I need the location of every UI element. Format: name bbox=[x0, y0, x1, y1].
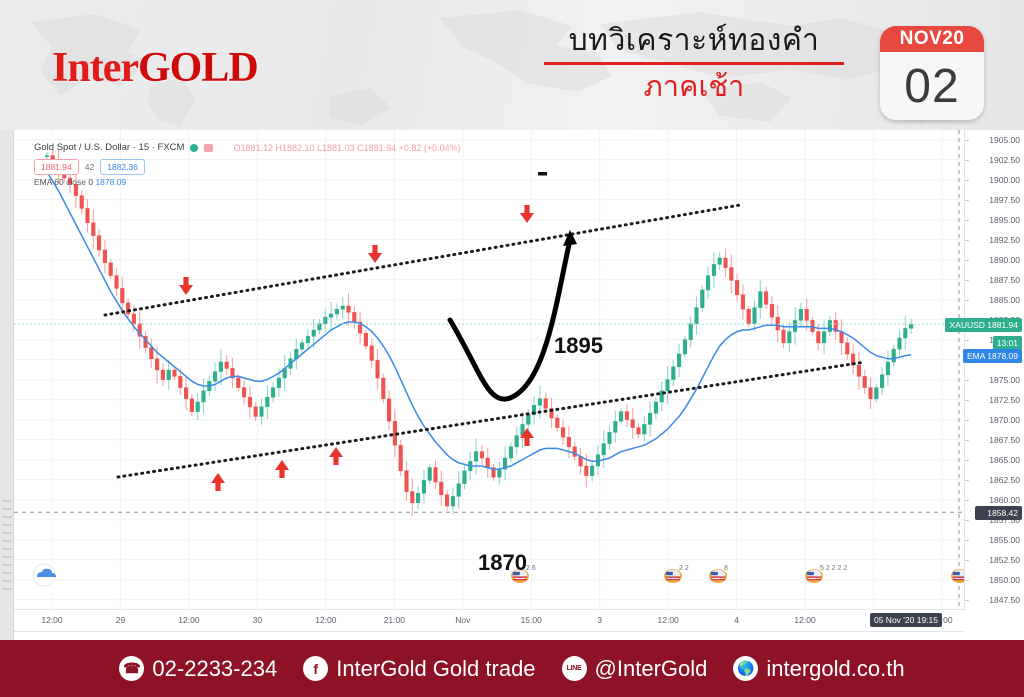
annotation-target-1895: 1895 bbox=[554, 333, 603, 359]
price-tick bbox=[965, 280, 969, 281]
svg-text:2 6: 2 6 bbox=[526, 565, 536, 572]
headline-line2: ภาคเช้า bbox=[544, 68, 844, 106]
price-tick bbox=[965, 140, 969, 141]
ask-price: 1882.36 bbox=[100, 159, 145, 175]
price-label: 1850.00 bbox=[989, 575, 1020, 585]
price-tick bbox=[965, 440, 969, 441]
signal-arrow-down-3 bbox=[520, 205, 534, 223]
signal-arrow-down-2 bbox=[368, 245, 382, 263]
price-tick bbox=[965, 540, 969, 541]
price-tick bbox=[965, 260, 969, 261]
headline-line1: บทวิเคราะห์ทองคำ bbox=[544, 22, 844, 60]
headline-block: บทวิเคราะห์ทองคำ ภาคเช้า bbox=[544, 22, 844, 106]
spread-value: 42 bbox=[85, 162, 94, 172]
price-label: 1855.00 bbox=[989, 535, 1020, 545]
chart-plot-area[interactable]: 2 62 285 2 2 2 25 2 29 Gold Spot / U.S. … bbox=[14, 130, 964, 610]
bid-price: 1881.94 bbox=[34, 159, 79, 175]
tradingview-chart: 2 62 285 2 2 2 25 2 29 Gold Spot / U.S. … bbox=[0, 130, 1024, 640]
svg-text:5 2 2 2 2: 5 2 2 2 2 bbox=[820, 565, 847, 572]
time-label: 15:00 bbox=[521, 615, 542, 625]
annotation-target-1870: 1870 bbox=[478, 550, 527, 576]
price-tick bbox=[965, 460, 969, 461]
ema-label: EMA 60 close 0 bbox=[34, 177, 93, 187]
time-label: 21:00 bbox=[384, 615, 405, 625]
headline-divider bbox=[544, 62, 844, 65]
calendar-day: 02 bbox=[880, 52, 984, 120]
price-tick bbox=[965, 400, 969, 401]
brand-gold: GOLD bbox=[138, 45, 258, 91]
time-label: 12:00 bbox=[178, 615, 199, 625]
price-tick bbox=[965, 300, 969, 301]
event-flag-marker[interactable]: 5 2 29 bbox=[951, 565, 964, 583]
line-icon: LINE bbox=[562, 656, 587, 681]
calendar-badge: NOV20 02 bbox=[880, 26, 984, 120]
ema-value: 1878.09 bbox=[95, 177, 126, 187]
time-label: 12:00 bbox=[658, 615, 679, 625]
price-label: 1852.50 bbox=[989, 555, 1020, 565]
price-label: 1865.00 bbox=[989, 455, 1020, 465]
chart-legend: Gold Spot / U.S. Dollar · 15 · FXCM O188… bbox=[34, 142, 461, 153]
page-header: InterGOLD บทวิเคราะห์ทองคำ ภาคเช้า NOV20… bbox=[0, 0, 1024, 130]
bull-color-dot bbox=[190, 144, 198, 152]
signal-arrow-up-1 bbox=[211, 473, 225, 491]
left-toolbar-rail[interactable] bbox=[0, 130, 14, 640]
price-label: 1875.00 bbox=[989, 375, 1020, 385]
price-tick bbox=[965, 240, 969, 241]
price-label: 1870.00 bbox=[989, 415, 1020, 425]
footer-facebook-text: InterGold Gold trade bbox=[336, 656, 535, 682]
bear-color-dot bbox=[204, 144, 213, 152]
price-tick bbox=[965, 560, 969, 561]
price-badge-ema: EMA 1878.09 bbox=[963, 349, 1022, 363]
price-tick bbox=[965, 220, 969, 221]
tradingview-watermark bbox=[33, 564, 56, 586]
price-label: 1885.00 bbox=[989, 295, 1020, 305]
footer-line-text: @InterGold bbox=[595, 656, 708, 682]
globe-icon: 🌎 bbox=[733, 656, 758, 681]
price-tick bbox=[965, 480, 969, 481]
price-label: 1862.50 bbox=[989, 475, 1020, 485]
price-tick bbox=[965, 340, 969, 341]
price-label: 1900.00 bbox=[989, 175, 1020, 185]
price-badge-13:01: 13:01 bbox=[993, 336, 1022, 350]
screenshot-root: InterGOLD บทวิเคราะห์ทองคำ ภาคเช้า NOV20… bbox=[0, 0, 1024, 697]
signal-arrow-up-3 bbox=[329, 447, 343, 465]
price-label: 1895.00 bbox=[989, 215, 1020, 225]
brand-inter: Inter bbox=[52, 45, 138, 91]
page-footer: ☎ 02-2233-234 f InterGold Gold trade LIN… bbox=[0, 640, 1024, 697]
price-label: 1860.00 bbox=[989, 495, 1020, 505]
price-tick bbox=[965, 420, 969, 421]
price-label: 1867.50 bbox=[989, 435, 1020, 445]
price-tick bbox=[965, 200, 969, 201]
ohlc-values: O1881.12 H1882.10 L1881.03 C1881.94 +0.8… bbox=[233, 143, 460, 153]
time-scale[interactable]: 12:002912:003012:0021:00Nov15:00312:0041… bbox=[14, 610, 964, 632]
brand-logo: InterGOLD bbox=[52, 44, 258, 92]
time-label: 29 bbox=[116, 615, 125, 625]
time-crosshair-badge: 05 Nov '20 19:15 bbox=[870, 613, 942, 627]
price-label: 1905.00 bbox=[989, 135, 1020, 145]
time-label: 12:00 bbox=[794, 615, 815, 625]
footer-line[interactable]: LINE @InterGold bbox=[562, 656, 708, 682]
time-label: 30 bbox=[253, 615, 262, 625]
time-label: 12:00 bbox=[315, 615, 336, 625]
price-label: 1902.50 bbox=[989, 155, 1020, 165]
calendar-month: NOV20 bbox=[880, 26, 984, 52]
svg-text:2 2: 2 2 bbox=[679, 565, 689, 572]
price-tick bbox=[965, 380, 969, 381]
price-label: 1887.50 bbox=[989, 275, 1020, 285]
svg-text:8: 8 bbox=[724, 565, 728, 572]
bid-ask-row: 1881.94 42 1882.36 bbox=[34, 159, 145, 175]
event-flag-marker[interactable]: 8 bbox=[709, 565, 728, 583]
price-badge-xauusd: XAUUSD 1881.94 bbox=[945, 318, 1022, 332]
price-tick bbox=[965, 180, 969, 181]
price-label: 1897.50 bbox=[989, 195, 1020, 205]
price-tick bbox=[965, 580, 969, 581]
time-label: 4 bbox=[734, 615, 739, 625]
time-label: 3 bbox=[597, 615, 602, 625]
price-tick bbox=[965, 500, 969, 501]
phone-icon: ☎ bbox=[119, 656, 144, 681]
event-flag-marker[interactable]: 5 2 2 2 2 bbox=[805, 565, 847, 583]
facebook-icon: f bbox=[303, 656, 328, 681]
symbol-label: Gold Spot / U.S. Dollar · 15 · FXCM bbox=[34, 142, 184, 153]
price-scale[interactable]: 1905.001902.501900.001897.501895.001892.… bbox=[964, 130, 1024, 610]
chart-canvas: 2 62 285 2 2 2 25 2 29 bbox=[14, 130, 964, 610]
price-label: 1890.00 bbox=[989, 255, 1020, 265]
footer-phone-text: 02-2233-234 bbox=[152, 656, 277, 682]
time-label: 12:00 bbox=[41, 615, 62, 625]
footer-website[interactable]: 🌎 intergold.co.th bbox=[733, 656, 904, 682]
signal-arrow-up-2 bbox=[275, 460, 289, 478]
price-tick bbox=[965, 160, 969, 161]
footer-facebook[interactable]: f InterGold Gold trade bbox=[303, 656, 535, 682]
price-badge-crosshair: 1858.42 bbox=[975, 506, 1022, 520]
price-tick bbox=[965, 600, 969, 601]
price-label: 1872.50 bbox=[989, 395, 1020, 405]
ema-legend: EMA 60 close 0 1878.09 bbox=[34, 177, 126, 187]
price-label: 1847.50 bbox=[989, 595, 1020, 605]
price-tick bbox=[965, 520, 969, 521]
time-label: Nov bbox=[455, 615, 470, 625]
footer-website-text: intergold.co.th bbox=[766, 656, 904, 682]
footer-phone[interactable]: ☎ 02-2233-234 bbox=[119, 656, 277, 682]
price-label: 1892.50 bbox=[989, 235, 1020, 245]
